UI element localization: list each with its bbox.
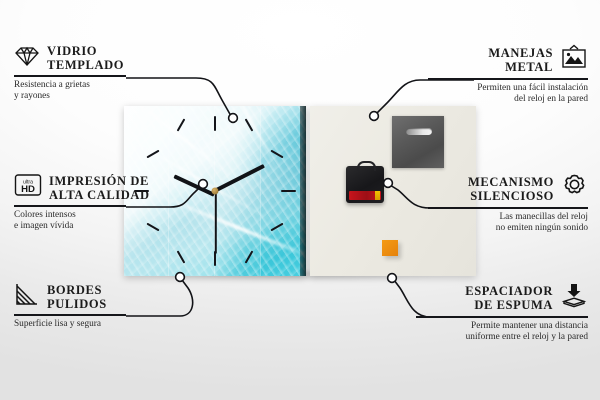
press-down-icon (560, 282, 588, 313)
callout-sub-line1: Permiten una fácil instalación (428, 83, 588, 94)
callout-rule (14, 314, 126, 316)
clock-tick (214, 116, 216, 131)
glass-edge (300, 106, 306, 276)
svg-text:HD: HD (21, 184, 35, 195)
callout-title: IMPRESIÓN DE ALTA CALIDAD (49, 174, 150, 202)
callout-hd-print[interactable]: ultra HD IMPRESIÓN DE ALTA CALIDAD Color… (14, 173, 126, 232)
callout-sub-line2: no emiten ningún sonido (428, 223, 588, 234)
connector-polished-edges (126, 280, 193, 316)
callout-rule (14, 205, 126, 207)
callout-header: ESPACIADOR DE ESPUMA (416, 282, 588, 313)
callout-title: VIDRIO TEMPLADO (47, 44, 124, 72)
gear-icon (561, 173, 588, 204)
callout-rule (14, 75, 126, 77)
diamond-icon (14, 45, 40, 72)
callout-rule (428, 207, 588, 209)
callout-sub-line2: e imagen vívida (14, 221, 126, 232)
callout-title: ESPACIADOR DE ESPUMA (465, 284, 553, 312)
clock-center-pin (212, 188, 219, 195)
callout-sub-line2: uniforme entre el reloj y la pared (416, 332, 588, 343)
clock-mechanism (346, 166, 384, 203)
callout-sub-line1: Permite mantener una distancia (416, 321, 588, 332)
callout-header: ultra HD IMPRESIÓN DE ALTA CALIDAD (14, 173, 126, 202)
product-image (124, 106, 476, 276)
polished-edges-icon (14, 282, 40, 311)
callout-title: MECANISMO SILENCIOSO (468, 175, 554, 203)
callout-header: MECANISMO SILENCIOSO (428, 173, 588, 204)
callout-tempered-glass[interactable]: VIDRIO TEMPLADO Resistencia a grietas y … (14, 44, 126, 102)
hanger-slot (406, 128, 432, 135)
callout-rule (428, 78, 588, 80)
callout-sub-line1: Superficie lisa y segura (14, 319, 126, 330)
mechanism-loop (357, 161, 376, 171)
clock-front-panel (124, 106, 306, 276)
clock-tick (281, 190, 296, 192)
battery-indicator (375, 191, 380, 200)
callout-header: MANEJAS METAL (428, 44, 588, 75)
callout-rule (416, 316, 588, 318)
callout-polished-edges[interactable]: BORDES PULIDOS Superficie lisa y segura (14, 282, 126, 330)
picture-frame-icon (560, 44, 588, 75)
callout-title: BORDES PULIDOS (47, 283, 107, 311)
callout-sub-line1: Colores intensos (14, 210, 126, 221)
callout-sub-line2: y rayones (14, 91, 126, 102)
glass-seam (214, 106, 261, 276)
second-hand (215, 192, 217, 254)
callout-silent-mechanism[interactable]: MECANISMO SILENCIOSO Las manecillas del … (428, 173, 588, 234)
callout-sub-line1: Las manecillas del reloj (428, 212, 588, 223)
callout-header: BORDES PULIDOS (14, 282, 126, 311)
infographic-canvas: VIDRIO TEMPLADO Resistencia a grietas y … (0, 0, 600, 400)
ultra-hd-icon: ultra HD (14, 173, 42, 202)
metal-hanger-plate (392, 116, 444, 168)
foam-spacer (382, 240, 398, 256)
callout-sub-line2: del reloj en la pared (428, 94, 588, 105)
callout-sub-line1: Resistencia a grietas (14, 80, 126, 91)
callout-metal-handles[interactable]: MANEJAS METAL Permiten una fácil instala… (428, 44, 588, 105)
callout-header: VIDRIO TEMPLADO (14, 44, 126, 72)
callout-foam-spacer[interactable]: ESPACIADOR DE ESPUMA Permite mantener un… (416, 282, 588, 343)
callout-title: MANEJAS METAL (488, 46, 553, 74)
